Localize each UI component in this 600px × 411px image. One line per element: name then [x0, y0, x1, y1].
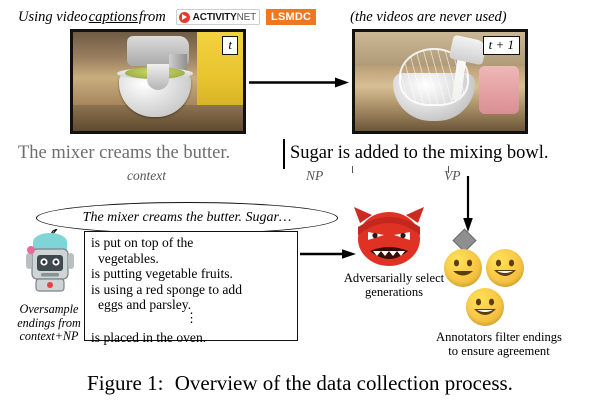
activitynet-logo-text: ACTIVITYNET	[193, 12, 256, 23]
generated-ending-line: is placed in the oven.	[91, 330, 292, 346]
oversample-caption: Oversample endings from context+NP	[10, 303, 88, 344]
annotator-emoji	[486, 249, 524, 287]
prompt-text: The mixer creams the butter. Sugar…	[83, 210, 292, 226]
figure-root: Using video captions from ACTIVITYNET LS…	[0, 0, 600, 411]
smiley-face-icon	[466, 288, 504, 326]
annotators-caption-line1: Annotators filter endings	[404, 330, 594, 344]
np-tick	[352, 166, 353, 173]
video-frame-t-image	[73, 32, 243, 131]
annotator-emoji	[466, 288, 504, 326]
adversarial-caption-line2: generations	[336, 285, 452, 299]
header-suffix: from	[139, 9, 166, 26]
next-sentence: Sugar is added to the mixing bowl.	[290, 143, 548, 164]
annotator-emoji	[444, 249, 482, 287]
figure-caption-label: Figure 1:	[87, 371, 163, 395]
header-prefix: Using video	[18, 9, 88, 26]
figure-rule	[18, 364, 582, 365]
label-np: NP	[306, 168, 323, 184]
label-vp: VP	[444, 168, 461, 184]
oversample-caption-line1: Oversample	[10, 303, 88, 317]
arrow-frame-to-frame	[249, 77, 349, 88]
frame-label-t-plus-1: t + 1	[483, 36, 520, 55]
annotators-caption-line2: to ensure agreement	[404, 344, 594, 358]
caption-divider	[283, 139, 285, 169]
arrow-to-adversarial-filter	[300, 248, 356, 260]
adversarial-caption: Adversarially select generations	[336, 271, 452, 299]
figure-caption-text: Overview of the data collection process.	[175, 371, 513, 395]
smiley-face-icon	[486, 249, 524, 287]
video-frame-t: t	[70, 29, 246, 134]
lsmdc-logo: LSMDC	[266, 9, 316, 25]
adversarial-caption-line1: Adversarially select	[336, 271, 452, 285]
video-frame-t-plus-1: t + 1	[352, 29, 528, 134]
arrow-vp-to-filter	[462, 176, 474, 232]
generated-ending-line: is putting vegetable fruits.	[91, 266, 292, 282]
label-context: context	[127, 168, 166, 184]
lsmdc-logo-text: LSMDC	[271, 11, 311, 23]
generated-ending-line: is put on top of the	[91, 235, 292, 251]
activitynet-logo: ACTIVITYNET	[176, 9, 260, 25]
figure-caption: Figure 1: Overview of the data collectio…	[0, 371, 600, 396]
frame-label-t: t	[222, 36, 238, 55]
adversarial-devil-icon	[352, 205, 426, 271]
ellipsis-icon: ⋮	[91, 313, 292, 330]
prompt-speech-bubble: The mixer creams the butter. Sugar…	[36, 202, 338, 234]
header-line: Using video captions from ACTIVITYNET LS…	[18, 6, 586, 28]
smiley-face-icon	[444, 249, 482, 287]
oversample-caption-line3: context+NP	[10, 330, 88, 344]
vp-tick	[448, 166, 449, 173]
annotators-caption: Annotators filter endings to ensure agre…	[404, 330, 594, 358]
robot-icon	[22, 231, 78, 297]
context-sentence: The mixer creams the butter.	[18, 143, 230, 164]
header-note: (the videos are never used)	[350, 9, 506, 26]
generated-endings-box: is put on top of the vegetables. is putt…	[84, 231, 298, 341]
oversample-caption-line2: endings from	[10, 317, 88, 331]
play-icon	[179, 12, 190, 23]
header-underlined-word: captions	[89, 9, 138, 26]
generated-ending-line: vegetables.	[91, 251, 292, 267]
generated-ending-line: is using a red sponge to add	[91, 282, 292, 298]
